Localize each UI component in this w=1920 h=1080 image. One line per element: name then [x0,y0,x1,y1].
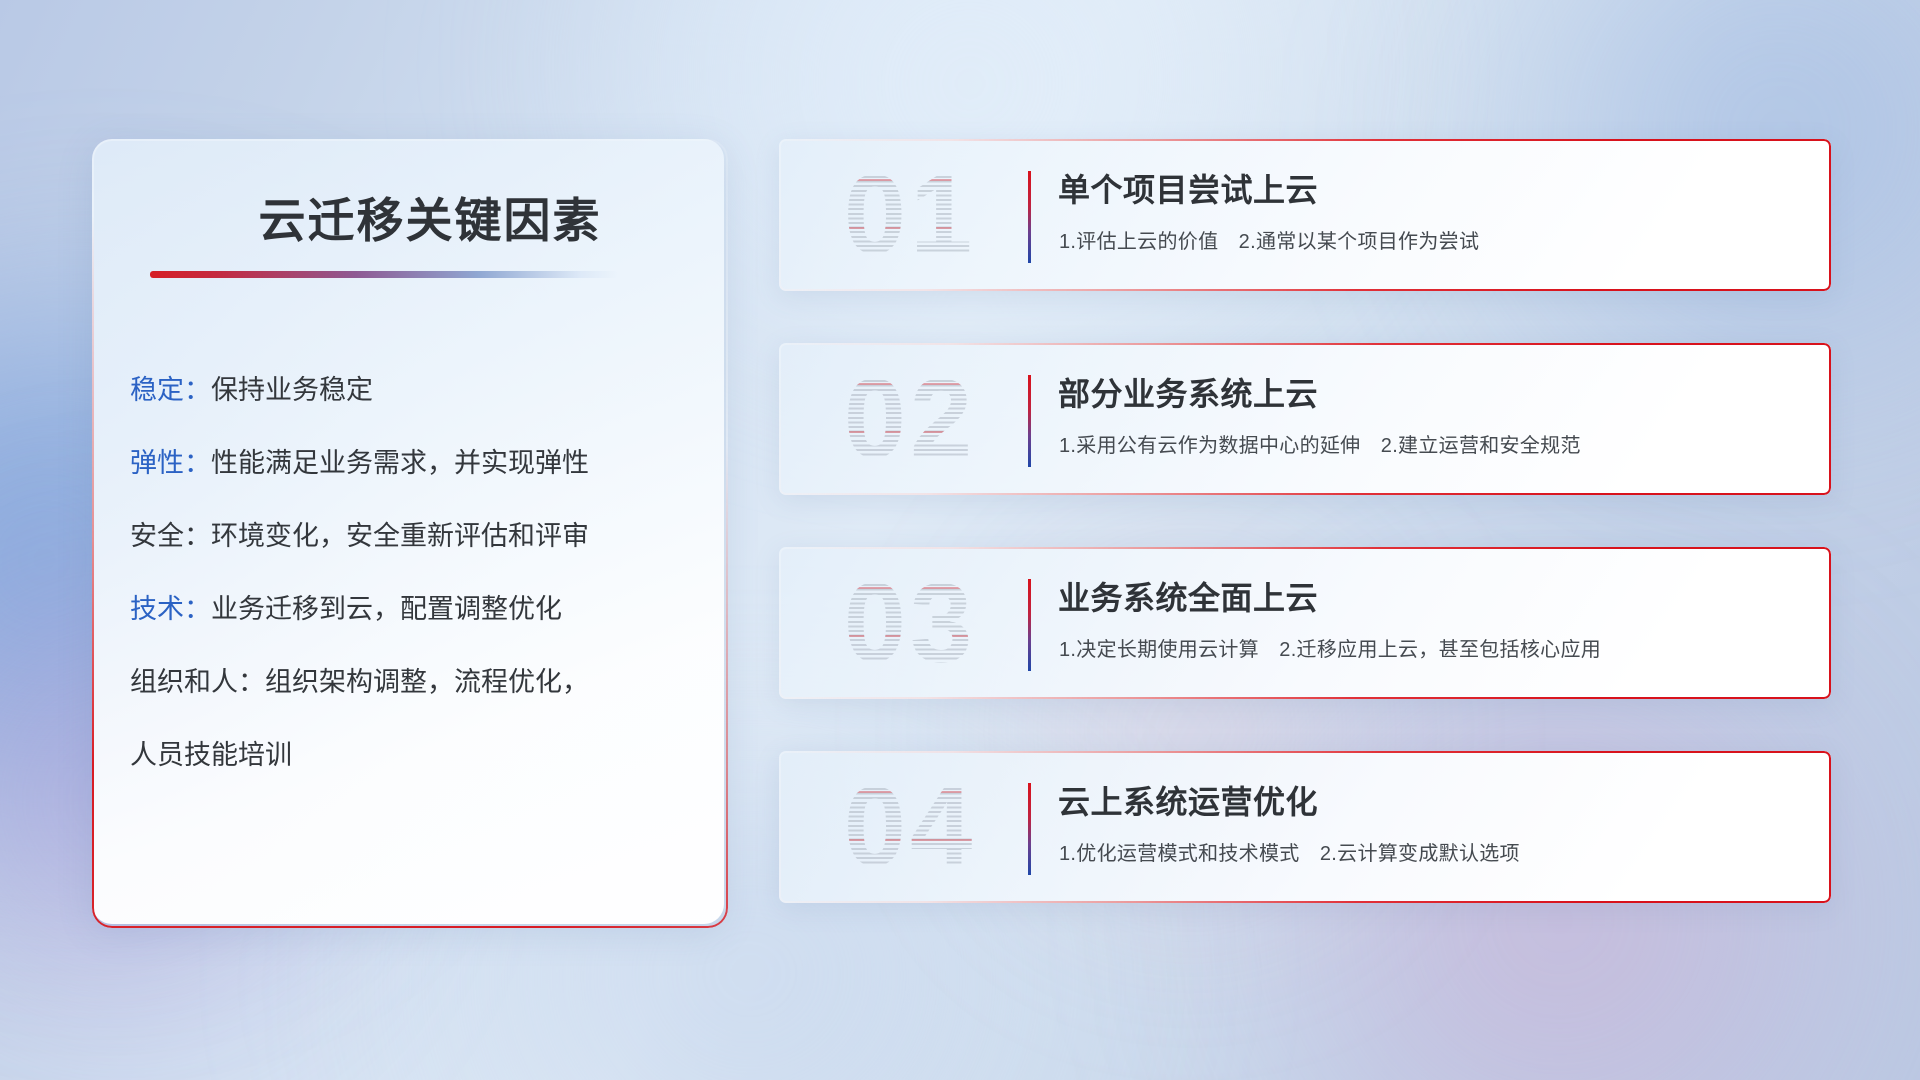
title-underline-accent [150,271,618,278]
stage-number-accent-stripes: 03 [815,561,1005,685]
key-factor-label: 组织和人： [130,667,265,697]
key-factor-row: 技术：业务迁移到云，配置调整优化 [130,596,698,623]
stage-accent-bar [1028,783,1031,875]
stage-card[interactable]: 0303业务系统全面上云1.决定长期使用云计算 2.迁移应用上云，甚至包括核心应… [779,547,1831,699]
key-factors-panel: 云迁移关键因素 稳定：保持业务稳定弹性：性能满足业务需求，并实现弹性安全：环境变… [92,139,724,924]
key-factors-list: 稳定：保持业务稳定弹性：性能满足业务需求，并实现弹性安全：环境变化，安全重新评估… [130,377,698,769]
stage-card[interactable]: 0404云上系统运营优化1.优化运营模式和技术模式 2.云计算变成默认选项 [779,751,1831,903]
stage-number-accent-stripes: 02 [815,357,1005,481]
stage-description: 1.决定长期使用云计算 2.迁移应用上云，甚至包括核心应用 [1059,633,1601,662]
stage-title: 云上系统运营优化 [1058,777,1318,823]
stage-description: 1.采用公有云作为数据中心的延伸 2.建立运营和安全规范 [1059,429,1581,458]
key-factor-label: 技术： [130,594,211,624]
key-factor-label: 安全： [130,521,211,551]
stage-card[interactable]: 0101单个项目尝试上云1.评估上云的价值 2.通常以某个项目作为尝试 [779,139,1831,291]
stage-card[interactable]: 0202部分业务系统上云1.采用公有云作为数据中心的延伸 2.建立运营和安全规范 [779,343,1831,495]
stage-title: 单个项目尝试上云 [1058,165,1318,211]
key-factor-label: 稳定： [130,375,211,405]
key-factor-value: 保持业务稳定 [211,375,373,405]
stage-card-list: 0101单个项目尝试上云1.评估上云的价值 2.通常以某个项目作为尝试0202部… [779,139,1831,903]
stage-accent-bar [1028,375,1031,467]
stage-description: 1.优化运营模式和技术模式 2.云计算变成默认选项 [1059,837,1520,866]
stage-number-accent-stripes: 04 [815,765,1005,889]
stage-accent-bar [1028,171,1031,263]
key-factor-value: 人员技能培训 [130,740,292,770]
key-factor-value: 环境变化，安全重新评估和评审 [211,521,589,551]
stage-description: 1.评估上云的价值 2.通常以某个项目作为尝试 [1059,225,1479,254]
key-factor-row: 组织和人：组织架构调整，流程优化， [130,669,698,696]
page-title: 云迁移关键因素 [200,182,660,251]
key-factor-row: 稳定：保持业务稳定 [130,377,698,404]
stage-title: 部分业务系统上云 [1058,369,1318,415]
stage-accent-bar [1028,579,1031,671]
key-factor-value: 组织架构调整，流程优化， [265,667,589,697]
stage-number-accent-stripes: 01 [815,153,1005,277]
key-factor-row: 人员技能培训 [130,742,698,769]
stage-title: 业务系统全面上云 [1058,573,1318,619]
key-factor-label: 弹性： [130,448,211,478]
key-factor-value: 性能满足业务需求，并实现弹性 [211,448,589,478]
key-factor-row: 安全：环境变化，安全重新评估和评审 [130,523,698,550]
key-factor-value: 业务迁移到云，配置调整优化 [211,594,562,624]
key-factor-row: 弹性：性能满足业务需求，并实现弹性 [130,450,698,477]
